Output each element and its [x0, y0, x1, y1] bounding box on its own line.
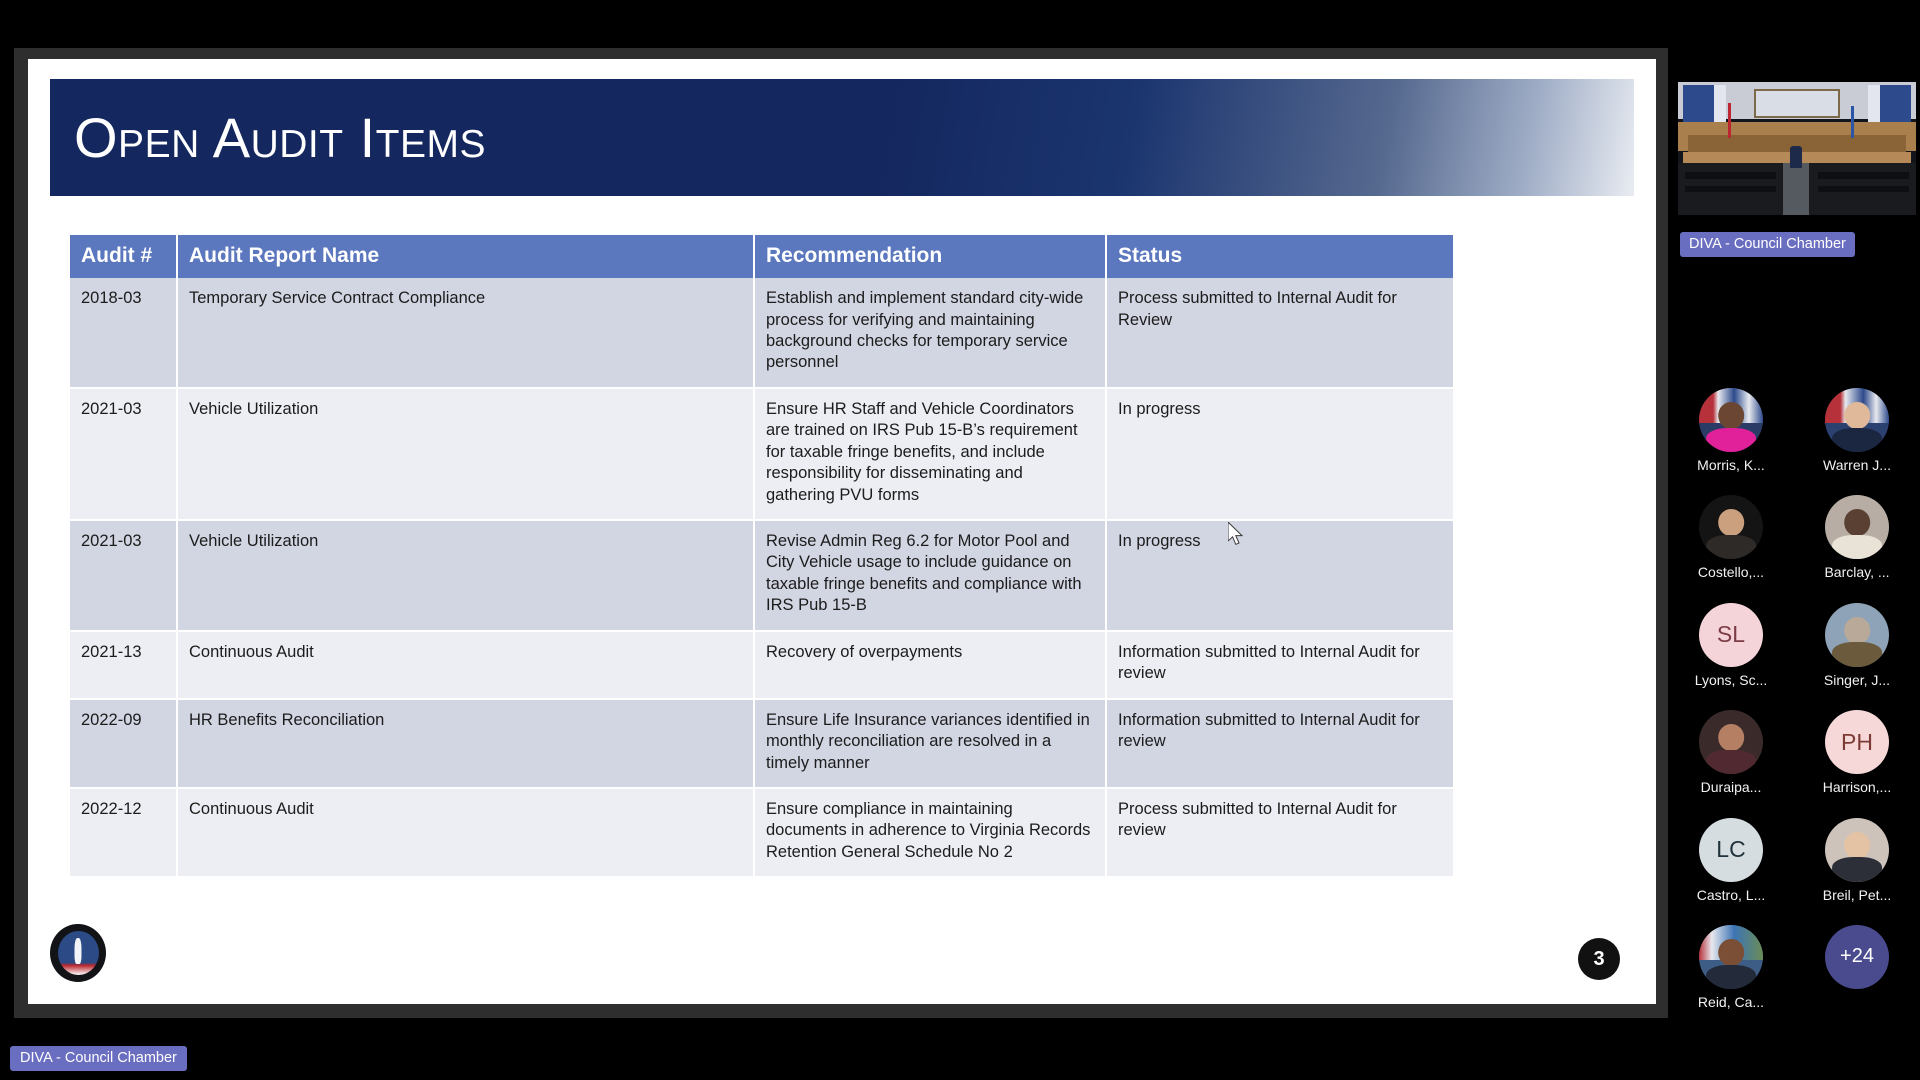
participant-tile[interactable]: Breil, Pet...	[1794, 818, 1920, 903]
council-chamber-video	[1678, 82, 1916, 215]
city-of-richmond-seal-icon	[50, 924, 106, 982]
slide-title-banner: Open Audit Items	[50, 79, 1634, 196]
cell-recommendation: Ensure HR Staff and Vehicle Coordinators…	[755, 389, 1107, 521]
participant-name: Castro, L...	[1697, 888, 1765, 903]
cell-status: Process submitted to Internal Audit for …	[1107, 789, 1453, 878]
avatar	[1825, 603, 1889, 667]
participant-name: Reid, Ca...	[1698, 995, 1764, 1010]
cell-status: Information submitted to Internal Audit …	[1107, 632, 1453, 700]
avatar	[1699, 710, 1763, 774]
participant-tile[interactable]: SL Lyons, Sc...	[1668, 603, 1794, 688]
cell-report-name: Continuous Audit	[178, 632, 755, 700]
open-audit-items-table: Audit # Audit Report Name Recommendation…	[70, 235, 1453, 878]
cell-audit-number: 2022-12	[70, 789, 178, 878]
cell-audit-number: 2021-03	[70, 389, 178, 521]
avatar-initials: SL	[1699, 603, 1763, 667]
participant-tile[interactable]: Warren J...	[1794, 388, 1920, 473]
shared-screen-frame: Open Audit Items Audit # Audit Report Na…	[14, 48, 1668, 1018]
avatar-initials-text: LC	[1716, 836, 1745, 863]
participant-tile[interactable]: LC Castro, L...	[1668, 818, 1794, 903]
screen-root: Open Audit Items Audit # Audit Report Na…	[0, 0, 1920, 1080]
cell-audit-number: 2021-03	[70, 521, 178, 632]
avatar-initials-text: PH	[1841, 729, 1873, 756]
table-row: 2022-12 Continuous Audit Ensure complian…	[70, 789, 1453, 878]
cell-report-name: Vehicle Utilization	[178, 521, 755, 632]
taskbar-window-chip[interactable]: DIVA - Council Chamber	[10, 1046, 187, 1071]
table-row: 2021-03 Vehicle Utilization Ensure HR St…	[70, 389, 1453, 521]
taskbar: DIVA - Council Chamber	[0, 1036, 1668, 1080]
participant-panel: DIVA - Council Chamber Morris, K... Warr…	[1668, 0, 1920, 1080]
column-header-audit-number: Audit #	[70, 235, 178, 278]
cell-recommendation: Establish and implement standard city-wi…	[755, 278, 1107, 389]
cell-report-name: Temporary Service Contract Compliance	[178, 278, 755, 389]
avatar-initials: LC	[1699, 818, 1763, 882]
participant-tile[interactable]: PH Harrison,...	[1794, 710, 1920, 795]
participant-tile[interactable]: Duraipa...	[1668, 710, 1794, 795]
participant-tile[interactable]: Singer, J...	[1794, 603, 1920, 688]
avatar-initials-text: SL	[1717, 621, 1745, 648]
table-row: 2021-13 Continuous Audit Recovery of ove…	[70, 632, 1453, 700]
table-header-row: Audit # Audit Report Name Recommendation…	[70, 235, 1453, 278]
slide-number-badge: 3	[1578, 938, 1620, 980]
avatar-initials: PH	[1825, 710, 1889, 774]
participant-name: Duraipa...	[1701, 780, 1762, 795]
column-header-report-name: Audit Report Name	[178, 235, 755, 278]
cell-status: In progress	[1107, 389, 1453, 521]
participant-name: Warren J...	[1823, 458, 1891, 473]
avatar	[1825, 818, 1889, 882]
participant-name: Costello,...	[1698, 565, 1764, 580]
cell-audit-number: 2021-13	[70, 632, 178, 700]
participant-tile[interactable]: Reid, Ca...	[1668, 925, 1794, 1010]
column-header-recommendation: Recommendation	[755, 235, 1107, 278]
participant-tile[interactable]: Costello,...	[1668, 495, 1794, 580]
page-title: Open Audit Items	[50, 105, 486, 170]
participant-name: Singer, J...	[1824, 673, 1890, 688]
table-row: 2021-03 Vehicle Utilization Revise Admin…	[70, 521, 1453, 632]
cell-report-name: Continuous Audit	[178, 789, 755, 878]
table-row: 2018-03 Temporary Service Contract Compl…	[70, 278, 1453, 389]
avatar	[1699, 495, 1763, 559]
presentation-slide: Open Audit Items Audit # Audit Report Na…	[28, 59, 1656, 1004]
avatar	[1825, 495, 1889, 559]
cell-audit-number: 2018-03	[70, 278, 178, 389]
participant-grid: Morris, K... Warren J... Costello,...	[1668, 388, 1920, 1010]
cell-status: Process submitted to Internal Audit for …	[1107, 278, 1453, 389]
participant-name: Lyons, Sc...	[1695, 673, 1768, 688]
cell-recommendation: Ensure Life Insurance variances identifi…	[755, 700, 1107, 789]
participant-tile[interactable]: Morris, K...	[1668, 388, 1794, 473]
participant-name: Harrison,...	[1823, 780, 1891, 795]
spotlight-name-label: DIVA - Council Chamber	[1680, 232, 1855, 257]
cell-recommendation: Recovery of overpayments	[755, 632, 1107, 700]
participant-name: Morris, K...	[1697, 458, 1765, 473]
avatar	[1699, 925, 1763, 989]
table-row: 2022-09 HR Benefits Reconciliation Ensur…	[70, 700, 1453, 789]
spotlight-video-tile[interactable]	[1678, 82, 1916, 215]
cell-audit-number: 2022-09	[70, 700, 178, 789]
cell-status: Information submitted to Internal Audit …	[1107, 700, 1453, 789]
avatar	[1825, 388, 1889, 452]
cell-recommendation: Ensure compliance in maintaining documen…	[755, 789, 1107, 878]
overflow-count-badge: +24	[1825, 925, 1889, 989]
cell-report-name: HR Benefits Reconciliation	[178, 700, 755, 789]
column-header-status: Status	[1107, 235, 1453, 278]
cell-report-name: Vehicle Utilization	[178, 389, 755, 521]
participant-name: Barclay, ...	[1824, 565, 1889, 580]
avatar	[1699, 388, 1763, 452]
participant-name: Breil, Pet...	[1823, 888, 1891, 903]
cell-recommendation: Revise Admin Reg 6.2 for Motor Pool and …	[755, 521, 1107, 632]
cell-status: In progress	[1107, 521, 1453, 632]
participant-tile[interactable]: Barclay, ...	[1794, 495, 1920, 580]
participant-overflow-tile[interactable]: +24	[1794, 925, 1920, 1010]
